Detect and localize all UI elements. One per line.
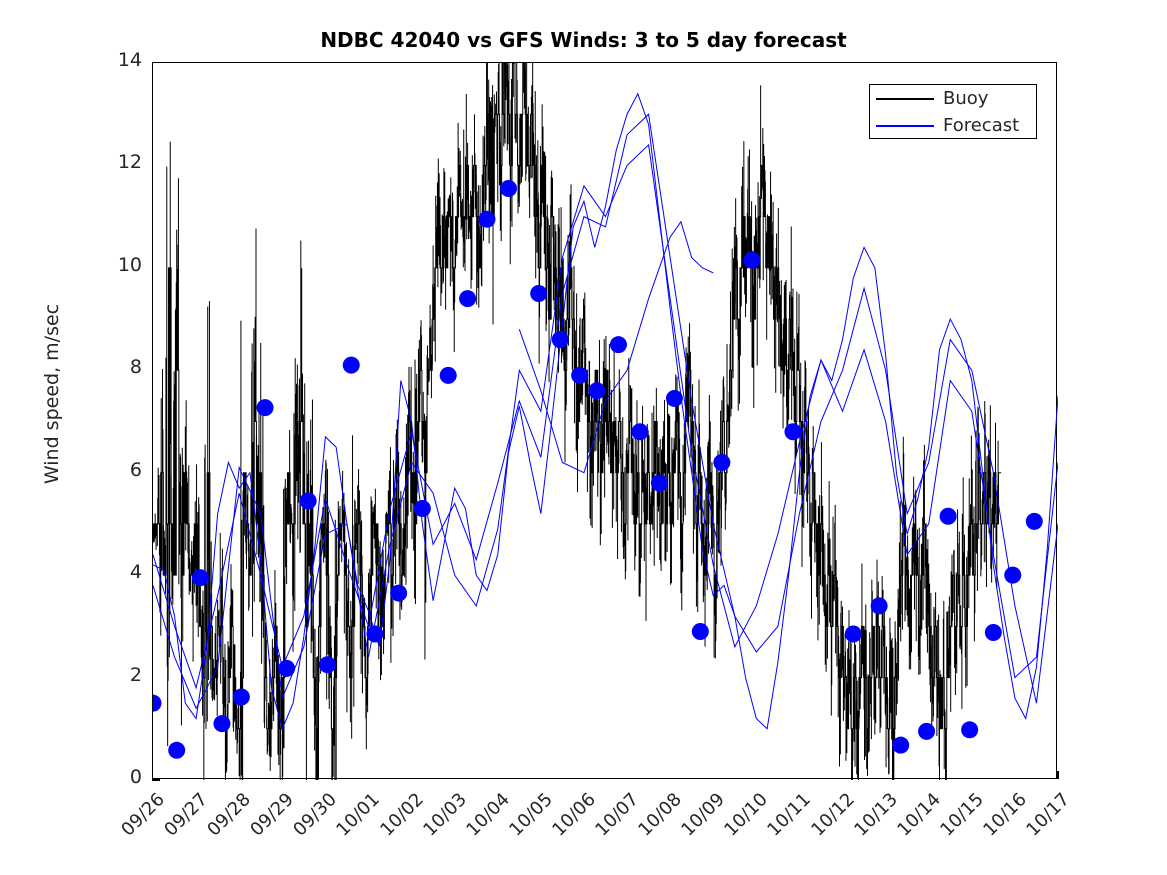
legend-entry-forecast: Forecast (870, 112, 1036, 139)
data-point-marker (300, 492, 317, 509)
data-point-marker (366, 626, 383, 643)
y-tick-label: 6 (90, 459, 142, 481)
data-point-marker (744, 252, 761, 269)
data-point-marker (985, 624, 1002, 641)
legend-line-buoy (876, 98, 934, 100)
data-point-marker (713, 454, 730, 471)
y-tick-label: 14 (90, 49, 142, 71)
legend-entry-buoy: Buoy (870, 85, 1036, 112)
data-point-marker (610, 336, 627, 353)
data-point-marker (1026, 513, 1043, 530)
legend-label-forecast: Forecast (943, 117, 1019, 135)
data-point-marker (961, 721, 978, 738)
data-point-marker (500, 180, 517, 197)
data-point-marker (552, 331, 569, 348)
data-point-marker (871, 597, 888, 614)
figure-canvas: NDBC 42040 vs GFS Winds: 3 to 5 day fore… (0, 0, 1167, 875)
legend-label-buoy: Buoy (943, 90, 988, 108)
data-point-marker (530, 285, 547, 302)
data-point-marker (390, 585, 407, 602)
data-point-marker (319, 656, 336, 673)
series-svg (153, 63, 1058, 780)
data-point-marker (892, 737, 909, 754)
y-tick-label: 0 (90, 766, 142, 788)
y-tick-label: 12 (90, 151, 142, 173)
data-point-marker (192, 569, 209, 586)
plot-area (152, 62, 1057, 779)
data-point-marker (918, 723, 935, 740)
data-point-marker (692, 623, 709, 640)
y-tick-label: 10 (90, 254, 142, 276)
data-point-marker (168, 742, 185, 759)
data-point-marker (257, 399, 274, 416)
chart-title: NDBC 42040 vs GFS Winds: 3 to 5 day fore… (0, 28, 1167, 52)
data-point-marker (651, 474, 668, 491)
data-point-marker (631, 423, 648, 440)
legend-line-forecast (876, 125, 934, 127)
data-point-marker (233, 689, 250, 706)
data-point-marker (588, 382, 605, 399)
data-point-marker (1004, 567, 1021, 584)
data-point-marker (459, 290, 476, 307)
y-axis-label: Wind speed, m/sec (41, 254, 63, 534)
data-point-marker (478, 211, 495, 228)
y-tick-label: 4 (90, 561, 142, 583)
y-tick-label: 8 (90, 356, 142, 378)
legend-box: Buoy Forecast (869, 84, 1037, 139)
data-point-marker (784, 423, 801, 440)
data-point-marker (343, 357, 360, 374)
data-point-marker (571, 367, 588, 384)
y-tick-label: 2 (90, 664, 142, 686)
data-point-marker (278, 660, 295, 677)
data-point-marker (440, 367, 457, 384)
data-point-marker (414, 500, 431, 517)
data-point-marker (213, 715, 230, 732)
plot-canvas (153, 63, 1058, 780)
data-point-marker (666, 390, 683, 407)
data-point-marker (940, 508, 957, 525)
data-point-marker (845, 626, 862, 643)
data-point-marker (153, 695, 162, 712)
